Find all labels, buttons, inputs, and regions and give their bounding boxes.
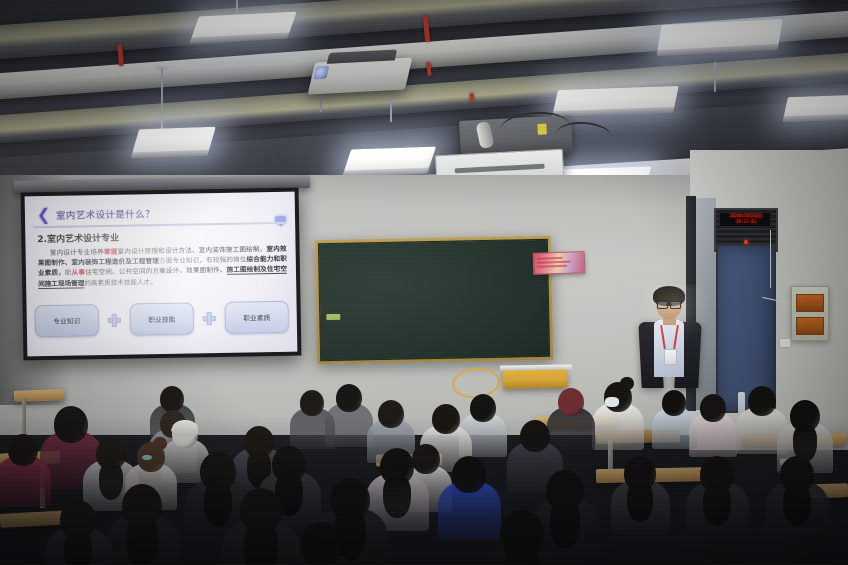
ac-vent xyxy=(454,164,545,173)
audience-member-head xyxy=(662,390,686,416)
led-clock-display: 2020年10月26日 19:17:43 xyxy=(719,212,771,227)
slide-text-run: 住宅空间、公共空间的方案设计、效果图制作、 xyxy=(85,266,227,276)
ceiling-light xyxy=(657,19,782,51)
audience-member-head xyxy=(378,400,404,428)
audience-member-head xyxy=(748,386,776,416)
audience-member xyxy=(300,522,380,565)
slide-title: 室内艺术设计是什么？ xyxy=(56,206,155,222)
ceiling-light xyxy=(553,86,679,112)
ceiling-light xyxy=(132,127,216,154)
audience-member-head xyxy=(8,434,38,466)
slide-text-highlight: 从事 xyxy=(72,269,86,277)
audience-member xyxy=(8,434,65,506)
electrical-panel xyxy=(791,286,829,341)
banner-line xyxy=(537,257,563,260)
slide-text-highlight: 掌握 xyxy=(104,248,118,256)
slide-body-text: 室内设计专业培养掌握室内设计原理和设计方法、室内装饰施工图绘制、室内效果图制作、… xyxy=(38,244,288,289)
audience-member-head xyxy=(300,390,324,416)
diagram-box: 职业素质 xyxy=(224,301,289,334)
audience-member-hair-bun xyxy=(620,377,633,390)
audience-member-hair xyxy=(99,463,123,501)
wall-socket-icon xyxy=(779,338,791,348)
audience-member-hair xyxy=(627,482,653,522)
slide-text-run: 方面专业知识，有较强的岗位 xyxy=(159,256,247,266)
blackboard-surface xyxy=(318,239,550,361)
face-mask-icon xyxy=(605,397,619,407)
audience-member-hair xyxy=(783,484,810,527)
banner-line xyxy=(537,265,567,268)
audience-member xyxy=(604,382,657,449)
ceiling-light xyxy=(191,12,297,39)
audience-member-cap xyxy=(172,420,198,437)
audience-member xyxy=(780,456,845,538)
ceiling-light xyxy=(344,147,436,172)
audience-member-hair xyxy=(504,546,539,565)
plus-icon xyxy=(203,312,216,325)
audience-member-head xyxy=(700,394,726,422)
red-pipe xyxy=(470,93,475,102)
audience-member xyxy=(700,394,749,456)
banner-line xyxy=(537,261,571,264)
slide-text-run: 室内设计专业培养 xyxy=(50,248,104,257)
audience-member-hair xyxy=(204,482,233,527)
audience-member-hair xyxy=(126,517,158,565)
ceiling-light xyxy=(784,95,848,117)
audience-member-hair-bun xyxy=(153,437,166,450)
audience-member xyxy=(500,510,584,565)
audience-member-hair xyxy=(703,484,730,527)
panel-plate xyxy=(796,294,824,312)
audience-member-head xyxy=(558,388,584,416)
slide-text-run: 的高素质技术技能人才。 xyxy=(84,278,157,287)
light-rod xyxy=(390,96,392,122)
indicator-lamp-icon xyxy=(744,240,748,244)
diagram-box: 专业知识 xyxy=(35,304,100,337)
plus-icon xyxy=(108,313,121,326)
audience-member xyxy=(624,456,685,533)
blackboard xyxy=(315,236,553,365)
slide-heading: 2.室内艺术设计专业 xyxy=(37,231,119,245)
projection-screen: ❮ 室内艺术设计是什么？ 2.室内艺术设计专业 室内设计专业培养掌握室内设计原理… xyxy=(25,192,298,357)
led-time: 19:17:43 xyxy=(723,219,769,225)
chevron-left-icon: ❮ xyxy=(37,208,53,224)
audience-member-head xyxy=(452,456,486,493)
projector-lens-icon xyxy=(313,66,329,80)
slide-text-run: 室内设计原理和设计方法、室内装饰施工图绘制、 xyxy=(117,245,266,256)
audience-member-head xyxy=(520,420,550,452)
glasses-icon xyxy=(657,301,681,307)
audience-member xyxy=(700,456,765,538)
slide-diagram: 专业知识 职业技能 职业素质 xyxy=(35,300,290,338)
audience-member xyxy=(60,500,128,565)
diagram-box: 职业技能 xyxy=(130,302,195,335)
classroom-photo: ❮ 室内艺术设计是什么？ 2.室内艺术设计专业 室内设计专业培养掌握室内设计原理… xyxy=(0,0,848,565)
projector-body-top xyxy=(326,49,397,64)
light-rod xyxy=(714,62,716,92)
conduit xyxy=(770,230,771,288)
audience-member-head xyxy=(432,404,460,434)
audience-member-hair xyxy=(64,530,93,565)
audience xyxy=(0,360,848,565)
ceiling-projector xyxy=(308,58,413,95)
panel-plate xyxy=(796,317,824,335)
audience-member-hair xyxy=(244,522,278,565)
light-rod xyxy=(161,68,163,130)
audience-member xyxy=(300,390,346,448)
audience-member xyxy=(122,484,198,565)
audience-member-head xyxy=(160,386,184,412)
wall-banner xyxy=(533,251,586,275)
blackboard-sticker xyxy=(326,314,340,320)
